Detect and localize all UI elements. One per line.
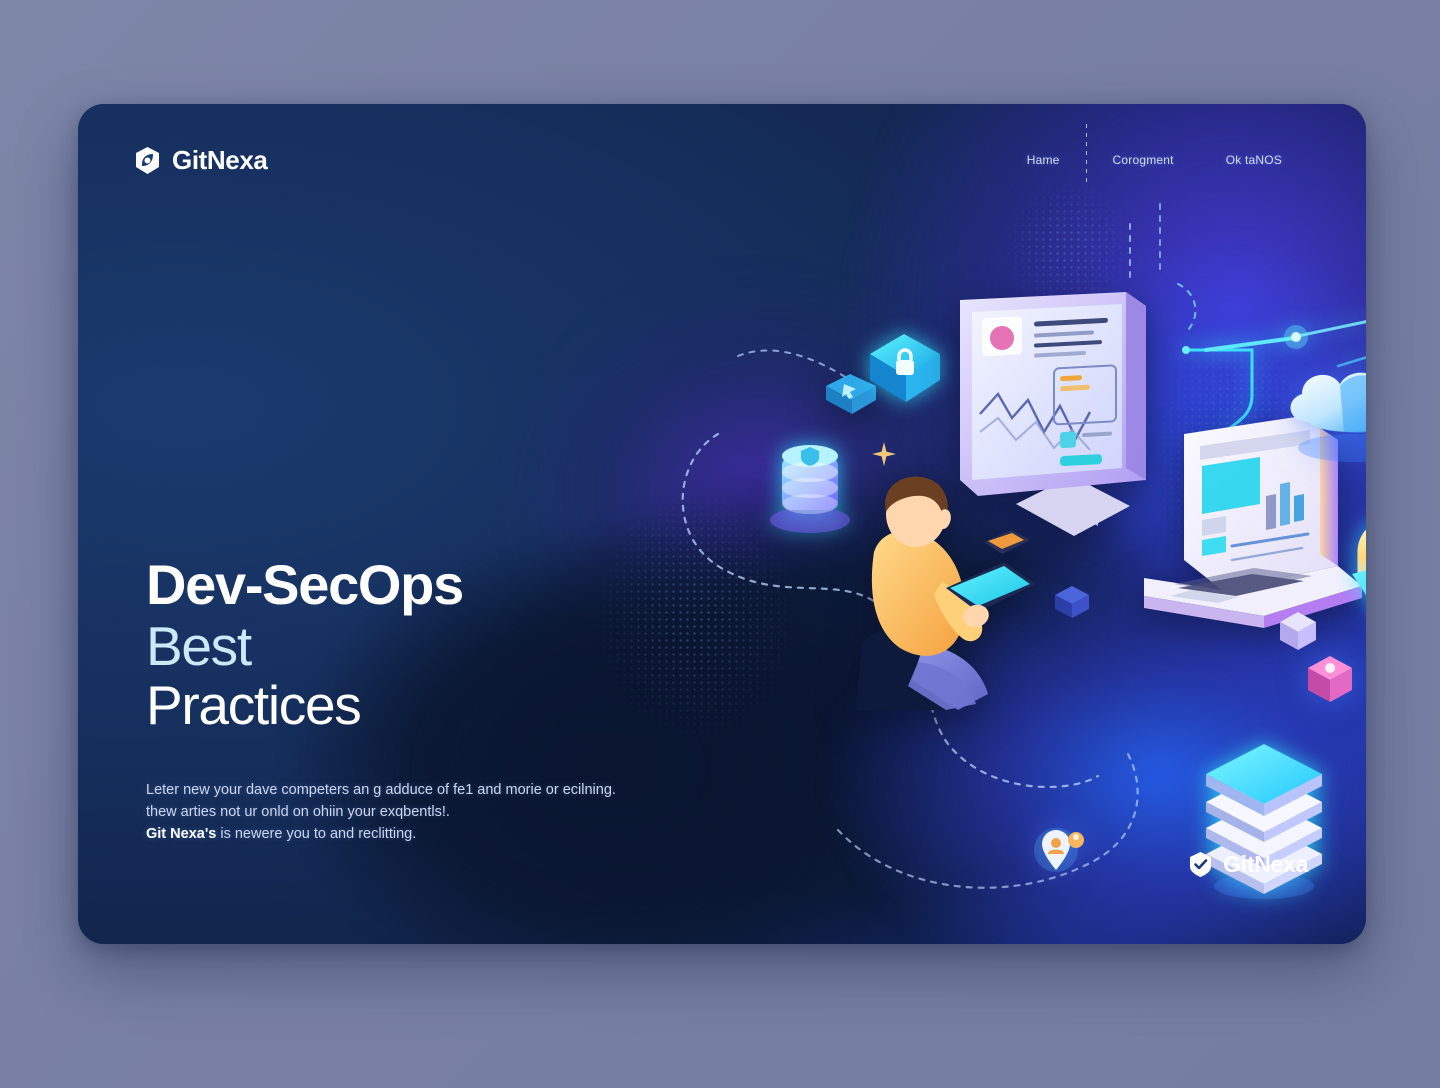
headline-line-2: Best	[146, 618, 786, 675]
body-line-3-rest: is newere you to and reclitting.	[216, 826, 416, 842]
halftone-dots-right	[1147, 322, 1327, 608]
brand-name: GitNexa	[172, 145, 267, 176]
nav-link-3[interactable]: Ok taNOS	[1200, 149, 1308, 171]
gitnexa-leaf-logo-icon	[134, 146, 161, 175]
nav-link-1[interactable]: Hame	[1001, 149, 1086, 171]
body-line-1: Leter new your dave competers an g adduc…	[146, 779, 771, 801]
headline-line-3: Practices	[146, 677, 786, 734]
hero-card: GitNexa Hame Corogment Ok taNOS Dev-SecO…	[78, 104, 1366, 944]
body-line-2: thew arties not ur onld on ohiin your ex…	[146, 801, 771, 823]
body-line-3: Git Nexa's is newere you to and reclitti…	[146, 823, 771, 845]
brand-logo[interactable]: GitNexa	[134, 145, 267, 176]
nav-link-2[interactable]: Corogment	[1087, 149, 1200, 171]
headline-line-1: Dev-SecOps	[146, 556, 786, 614]
watermark-logo: GitNexa	[1188, 851, 1308, 878]
gitnexa-shield-check-icon	[1188, 851, 1213, 878]
hero-copy: Dev-SecOps Best Practices Leter new your…	[146, 556, 786, 845]
page-root: GitNexa Hame Corogment Ok taNOS Dev-SecO…	[0, 0, 1440, 1088]
top-navigation-bar: GitNexa Hame Corogment Ok taNOS	[78, 104, 1366, 216]
main-nav[interactable]: Hame Corogment Ok taNOS	[1001, 138, 1308, 182]
watermark-name: GitNexa	[1223, 851, 1308, 878]
hero-body-copy: Leter new your dave competers an g adduc…	[146, 779, 771, 846]
body-line-3-brand: Git Nexa's	[146, 826, 216, 842]
